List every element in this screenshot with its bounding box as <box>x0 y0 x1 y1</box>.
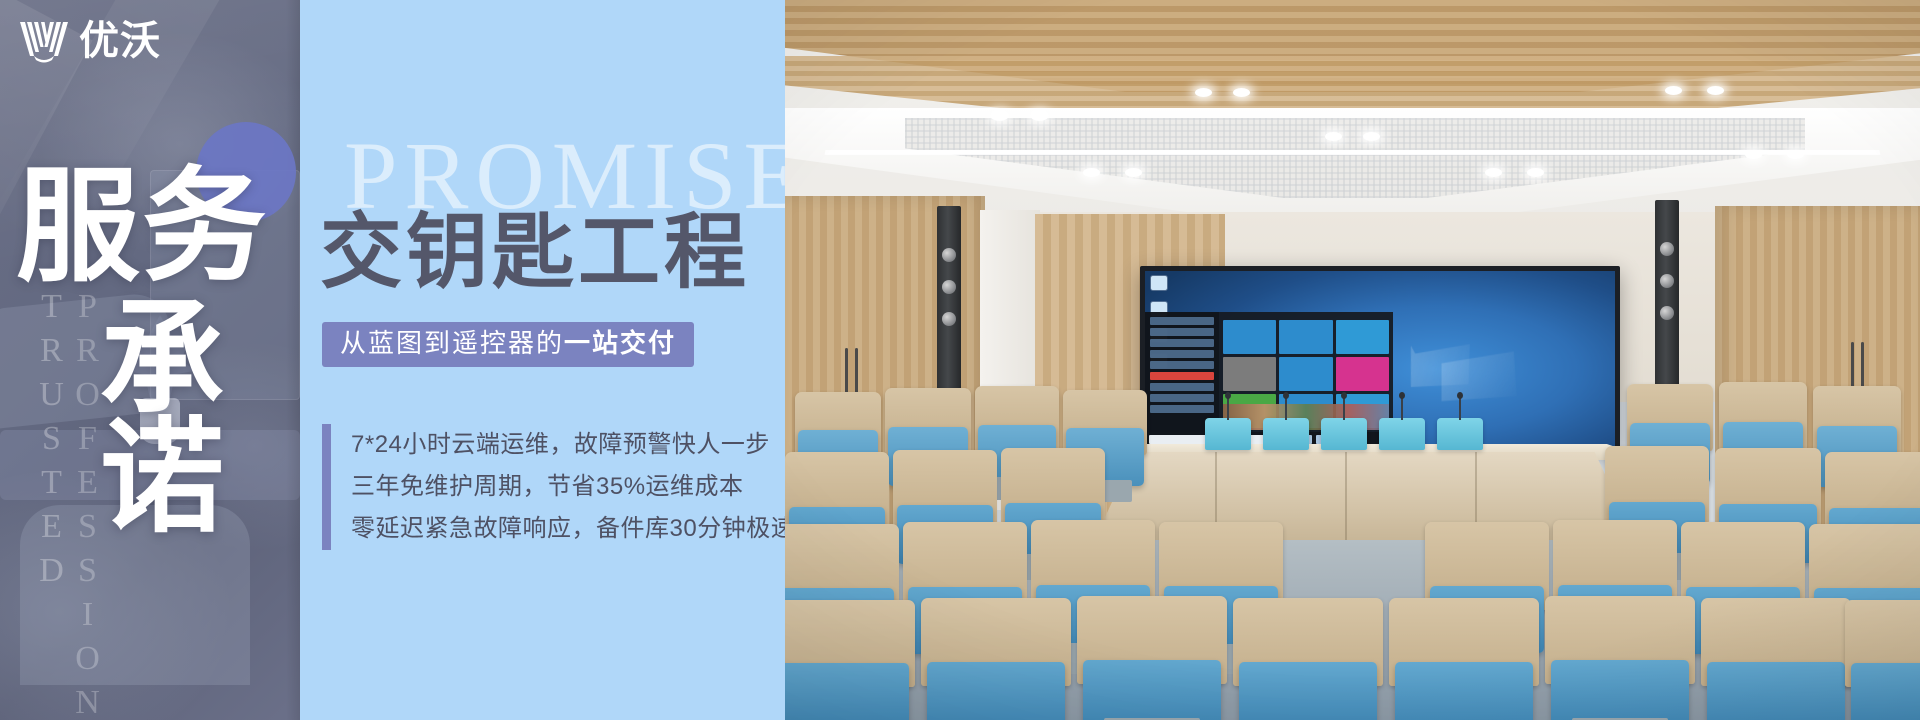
start-menu-item[interactable] <box>1150 372 1214 380</box>
auditorium-seat <box>1389 598 1539 720</box>
start-menu-item[interactable] <box>1150 405 1214 413</box>
start-tile[interactable] <box>1223 357 1276 391</box>
auditorium-seat <box>785 600 915 720</box>
ceiling-spotlight <box>1707 86 1724 95</box>
speaker-driver <box>1660 242 1674 256</box>
start-tile[interactable] <box>1336 357 1389 391</box>
brand-logo[interactable]: 优沃 <box>18 18 161 64</box>
ceiling-spotlight <box>1787 150 1804 159</box>
speaker-driver <box>942 248 956 262</box>
seat-cushion <box>1395 662 1533 720</box>
start-tile[interactable] <box>1279 357 1332 391</box>
ceiling-cove-light <box>825 150 1881 155</box>
ceiling-spotlight <box>1233 88 1250 97</box>
auditorium-seat <box>1701 598 1851 720</box>
brand-name: 优沃 <box>79 21 161 61</box>
desktop-icon[interactable] <box>1151 276 1167 290</box>
speaker-driver <box>942 280 956 294</box>
microphone-stem <box>1285 398 1287 420</box>
speaker-driver <box>942 312 956 326</box>
desk-microphone <box>1205 418 1251 450</box>
start-menu-item[interactable] <box>1150 361 1214 369</box>
microphone-head <box>1283 392 1289 399</box>
seat-cushion <box>927 662 1065 720</box>
w-monogram-logo-icon <box>18 18 70 64</box>
microphone-head <box>1399 392 1405 399</box>
seat-cushion <box>1083 660 1221 720</box>
left-headline-line-1: 服务 <box>16 168 268 287</box>
main-title: 交钥匙工程 <box>320 212 750 294</box>
promo-banner: 优沃 TRUSTED PROFESSIONAL 服务 承诺 PROMISE 交钥… <box>0 0 1920 720</box>
start-tile[interactable] <box>1279 320 1332 354</box>
ceiling-spotlight <box>1527 168 1544 177</box>
left-watermark-group: TRUSTED PROFESSIONAL <box>34 288 104 720</box>
ceiling-spotlight <box>1363 132 1380 141</box>
auditorium-seat <box>1845 600 1920 720</box>
badge-prefix-text: 从蓝图到遥控器的 <box>340 328 564 358</box>
desk-microphone <box>1263 418 1309 450</box>
feature-line: 7*24小时云端运维，故障预警快人一步 <box>351 424 785 466</box>
ceiling-spotlight <box>1083 168 1100 177</box>
ceiling-spotlight <box>1125 168 1142 177</box>
speaker-driver <box>1660 274 1674 288</box>
watermark-professional: PROFESSIONAL <box>70 288 104 720</box>
watermark-trusted: TRUSTED <box>34 288 68 720</box>
left-panel: 优沃 TRUSTED PROFESSIONAL 服务 承诺 <box>0 0 300 720</box>
ceiling-spotlight <box>1485 168 1502 177</box>
auditorium-seat <box>921 598 1071 720</box>
microphone-stem <box>1459 398 1461 420</box>
feature-line: 零延迟紧急故障响应，备件库30分钟极速达 <box>351 508 785 550</box>
desk-microphone <box>1437 418 1483 450</box>
ceiling-spotlight <box>1325 132 1342 141</box>
microphone-head <box>1457 392 1463 399</box>
start-tile[interactable] <box>1336 320 1389 354</box>
ceiling-spotlight <box>1665 86 1682 95</box>
start-menu-item[interactable] <box>1150 339 1214 347</box>
seat-cushion <box>1851 663 1920 720</box>
microphone-head <box>1225 392 1231 399</box>
speaker-driver <box>1660 306 1674 320</box>
feature-list: 7*24小时云端运维，故障预警快人一步 三年免维护周期，节省35%运维成本 零延… <box>322 424 785 550</box>
desk-microphone <box>1321 418 1367 450</box>
start-menu-item[interactable] <box>1150 317 1214 325</box>
ceiling-spotlight <box>991 112 1008 121</box>
ceiling-spotlight <box>1031 112 1048 121</box>
badge-strong-text: 一站交付 <box>564 328 676 358</box>
feature-line: 三年免维护周期，节省35%运维成本 <box>351 466 785 508</box>
subtitle-badge: 从蓝图到遥控器的一站交付 <box>322 322 694 367</box>
start-menu-item[interactable] <box>1150 350 1214 358</box>
microphone-stem <box>1401 398 1403 420</box>
middle-panel: PROMISE 交钥匙工程 从蓝图到遥控器的一站交付 7*24小时云端运维，故障… <box>300 0 785 720</box>
microphone-stem <box>1227 398 1229 420</box>
seat-cushion <box>785 663 909 720</box>
microphone-head <box>1341 392 1347 399</box>
seat-cushion <box>1551 660 1689 720</box>
start-menu-item[interactable] <box>1150 328 1214 336</box>
conference-room-photo <box>785 0 1920 720</box>
auditorium-seat <box>1077 596 1227 720</box>
auditorium-seat <box>1545 596 1695 720</box>
microphone-stem <box>1343 398 1345 420</box>
desk-microphone <box>1379 418 1425 450</box>
left-headline-line-2: 承诺 <box>100 300 300 538</box>
start-tile[interactable] <box>1223 320 1276 354</box>
seat-cushion <box>1707 662 1845 720</box>
start-menu-item[interactable] <box>1150 383 1214 391</box>
start-menu-item[interactable] <box>1150 394 1214 402</box>
ceiling-spotlight <box>1745 150 1762 159</box>
auditorium-seat <box>1233 598 1383 720</box>
ceiling-spotlight <box>1195 88 1212 97</box>
seat-cushion <box>1239 662 1377 720</box>
